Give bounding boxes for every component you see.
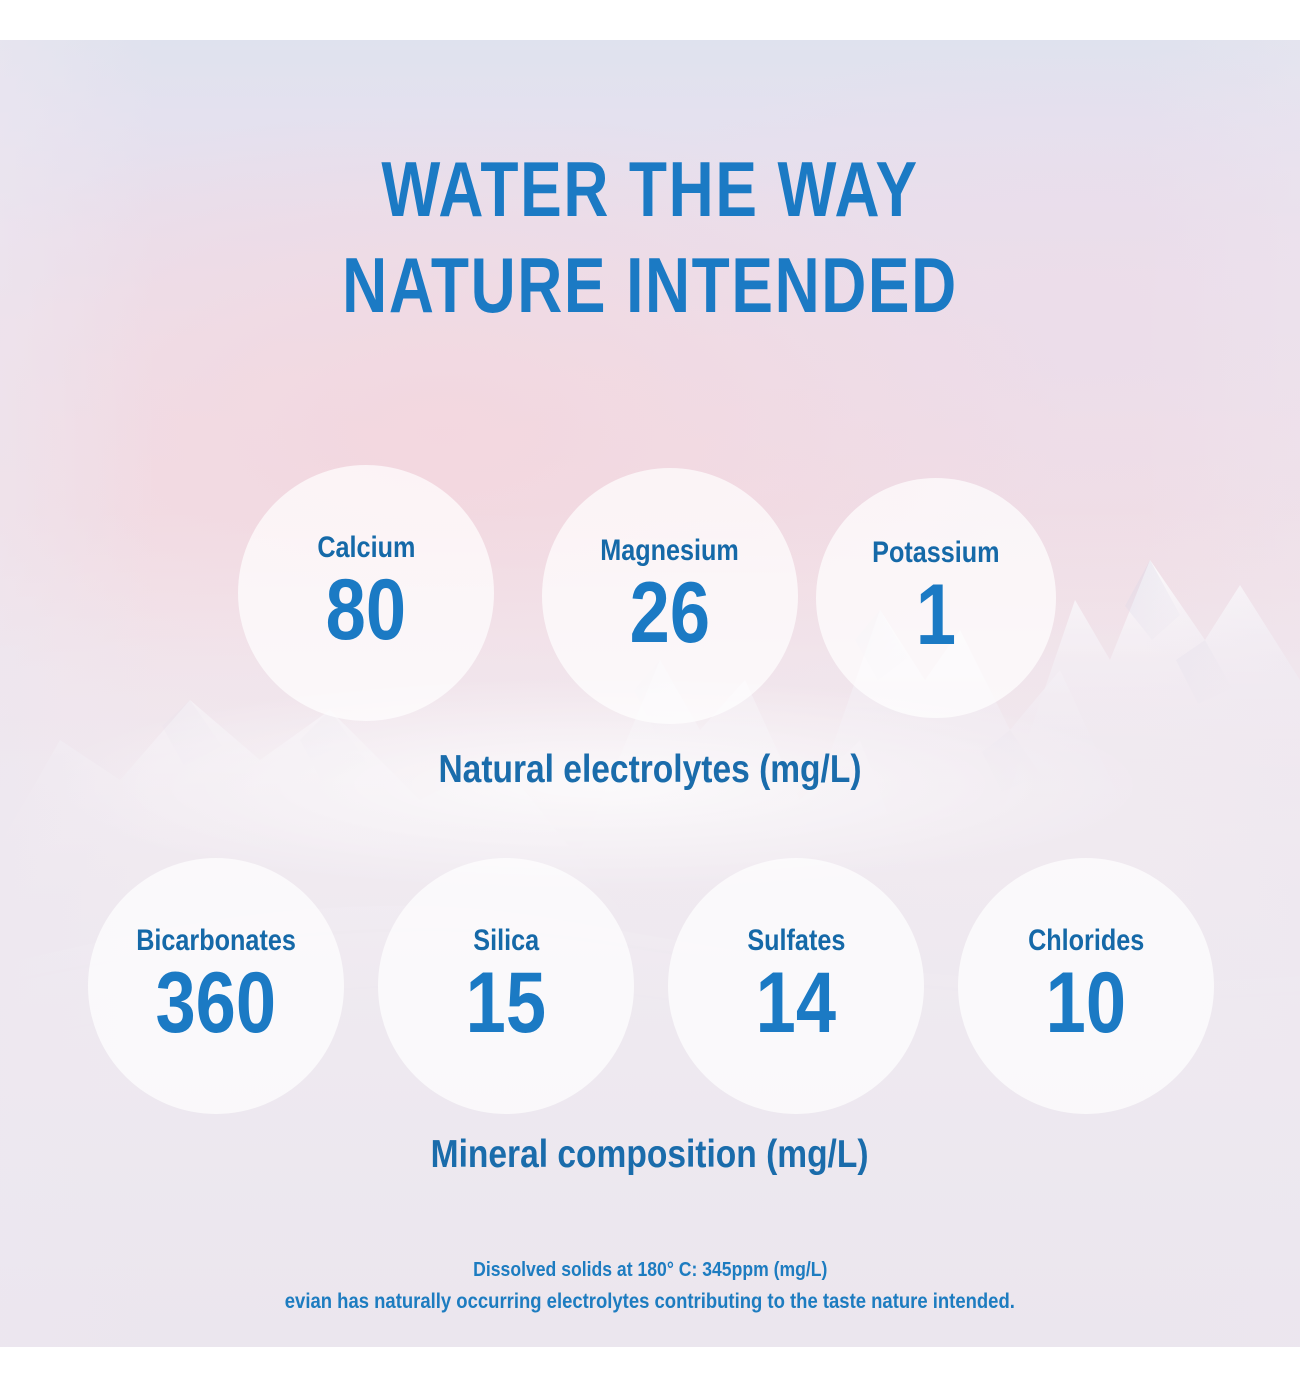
infographic-page: WATER THE WAY NATURE INTENDED Calcium 80…: [0, 0, 1300, 1400]
footer-line-1: Dissolved solids at 180° C: 345ppm (mg/L…: [0, 1255, 1300, 1286]
stat-label-chlorides: Chlorides: [1028, 926, 1144, 956]
stat-value-chlorides: 10: [1046, 960, 1126, 1046]
stat-value-bicarbonates: 360: [156, 960, 277, 1046]
footer-line-2-text: evian has naturally occurring electrolyt…: [285, 1286, 1015, 1319]
stat-value-silica: 15: [466, 960, 546, 1046]
minerals-caption-text: Mineral composition (mg/L): [431, 1135, 869, 1174]
page-title: WATER THE WAY NATURE INTENDED: [0, 150, 1300, 324]
stat-bubble-silica: Silica 15: [378, 858, 634, 1114]
footer-note: Dissolved solids at 180° C: 345ppm (mg/L…: [0, 1255, 1300, 1319]
stat-value-potassium: 1: [916, 572, 956, 658]
stat-bubble-magnesium: Magnesium 26: [542, 468, 798, 724]
stat-bubble-potassium: Potassium 1: [816, 478, 1056, 718]
stat-label-magnesium: Magnesium: [601, 536, 740, 566]
stat-value-magnesium: 26: [630, 570, 710, 656]
footer-line-1-text: Dissolved solids at 180° C: 345ppm (mg/L…: [473, 1255, 827, 1286]
stat-bubble-bicarbonates: Bicarbonates 360: [88, 858, 344, 1114]
stat-label-silica: Silica: [473, 926, 539, 956]
stat-label-sulfates: Sulfates: [747, 926, 845, 956]
page-title-line-2: NATURE INTENDED: [130, 246, 1170, 324]
electrolytes-caption: Natural electrolytes (mg/L): [0, 750, 1300, 789]
stat-bubble-calcium: Calcium 80: [238, 465, 494, 721]
minerals-caption: Mineral composition (mg/L): [0, 1135, 1300, 1174]
electrolytes-caption-text: Natural electrolytes (mg/L): [438, 750, 861, 789]
stat-value-sulfates: 14: [756, 960, 836, 1046]
stat-value-calcium: 80: [326, 567, 406, 653]
stat-label-calcium: Calcium: [317, 533, 415, 563]
stat-bubble-sulfates: Sulfates 14: [668, 858, 924, 1114]
stat-bubble-chlorides: Chlorides 10: [958, 858, 1214, 1114]
stat-label-potassium: Potassium: [872, 538, 999, 568]
page-title-line-1: WATER THE WAY: [130, 150, 1170, 228]
stat-label-bicarbonates: Bicarbonates: [136, 926, 296, 956]
content-layer: WATER THE WAY NATURE INTENDED Calcium 80…: [0, 0, 1300, 1400]
footer-line-2: evian has naturally occurring electrolyt…: [0, 1286, 1300, 1319]
